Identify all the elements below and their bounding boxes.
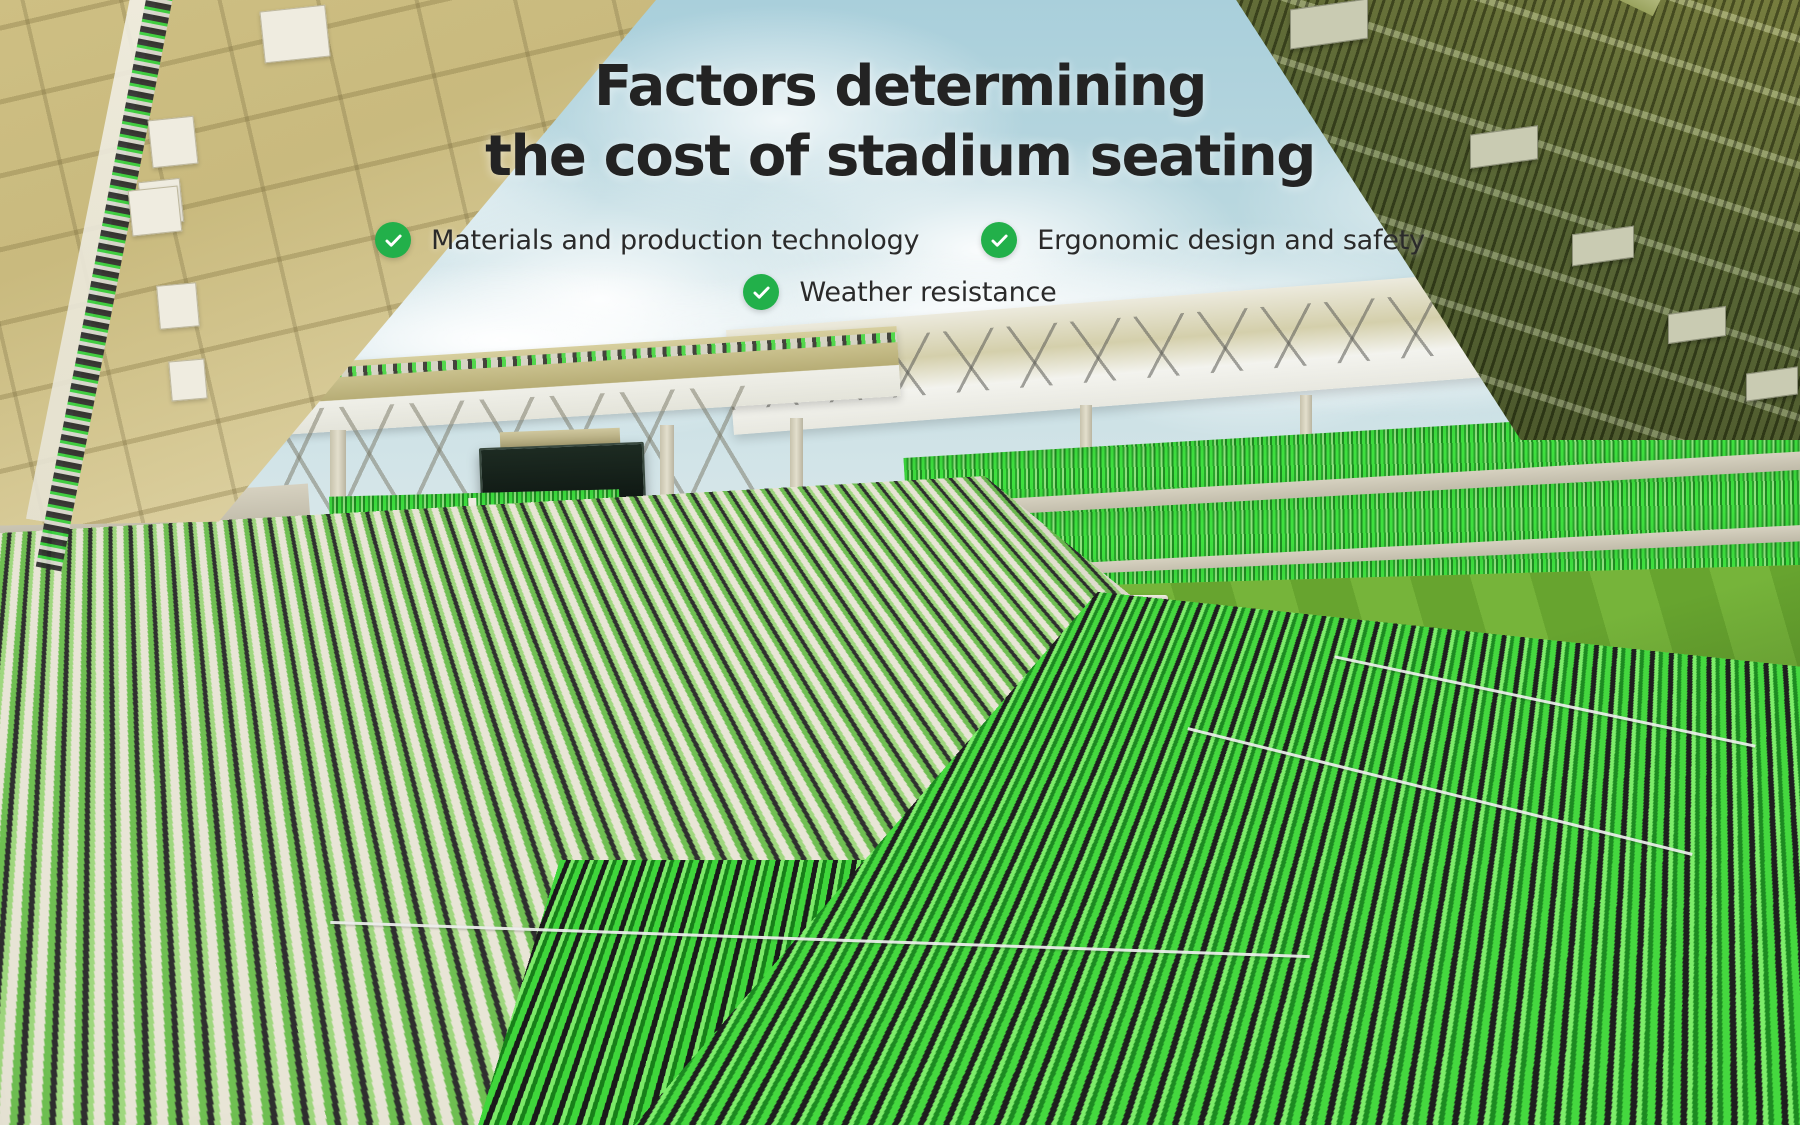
check-circle-icon xyxy=(743,274,779,310)
factor-item-materials: Materials and production technology xyxy=(375,222,919,258)
check-circle-icon xyxy=(981,222,1017,258)
factor-row-1: Materials and production technology Ergo… xyxy=(0,222,1800,258)
title-line-1: Factors determining xyxy=(0,52,1800,122)
factor-label: Weather resistance xyxy=(799,277,1056,308)
factor-row-2: Weather resistance xyxy=(0,274,1800,310)
factor-label: Ergonomic design and safety xyxy=(1037,225,1425,256)
hero-text-overlay: Factors determining the cost of stadium … xyxy=(0,0,1800,400)
title-line-2: the cost of stadium seating xyxy=(0,122,1800,192)
factor-item-ergonomics: Ergonomic design and safety xyxy=(981,222,1425,258)
hero-banner: Factors determining the cost of stadium … xyxy=(0,0,1800,1125)
factor-item-weather: Weather resistance xyxy=(743,274,1056,310)
check-circle-icon xyxy=(375,222,411,258)
factor-list: Materials and production technology Ergo… xyxy=(0,222,1800,310)
factor-label: Materials and production technology xyxy=(431,225,919,256)
page-title: Factors determining the cost of stadium … xyxy=(0,52,1800,192)
